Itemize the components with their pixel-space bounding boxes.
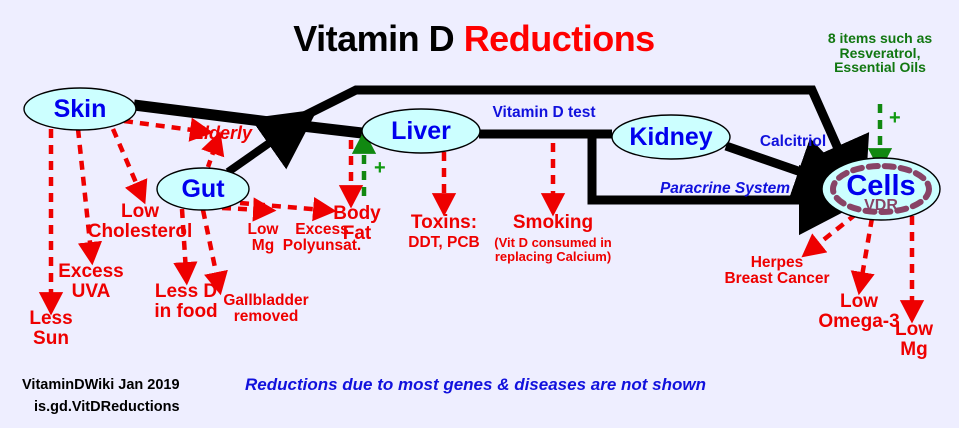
reduction-less-d-line2: in food [154,302,217,322]
reduction-low-mg-gut: Low Mg [248,222,279,255]
reduction-less-sun-line1: Less [29,309,72,329]
title-part-vitamin-d: Vitamin D [293,18,463,59]
organ-label-liver[interactable]: Liver [391,118,451,144]
title-part-reductions: Reductions [464,18,655,59]
reduction-smoking: Smoking [513,213,593,233]
reduction-low-cholesterol-line2: Cholesterol [88,222,193,242]
pathway-label-paracrine-system: Paracrine System [660,181,790,197]
source-attribution-line2[interactable]: is.gd.VitDReductions [34,400,180,415]
reduction-toxins: Toxins: [411,213,477,233]
source-attribution-line1: VitaminDWiki Jan 2019 [22,378,180,393]
reduction-body-fat-line1: Body [333,204,381,224]
reduction-low-omega3-line2: Omega-3 [818,312,899,332]
reduction-low-mg-cells-line2: Mg [895,340,933,360]
reduction-excess-uva-line1: Excess [58,262,124,282]
pathway-label-vitamin-d-test: Vitamin D test [492,105,595,121]
reduction-less-sun: Less Sun [29,309,72,349]
vdr-label: VDR [864,198,898,215]
reduction-gallbladder-line1: Gallbladder [223,293,308,309]
page-title: Vitamin D Reductions [293,20,654,58]
reduction-low-omega3-line1: Low [818,292,899,312]
footer-note: Reductions due to most genes & diseases … [245,376,706,394]
reduction-gallbladder-removed: Gallbladder removed [223,293,308,326]
plus-sign-cells: + [889,108,901,129]
organ-label-gut[interactable]: Gut [181,176,224,202]
organ-label-kidney[interactable]: Kidney [629,124,712,150]
reduction-less-sun-line2: Sun [29,329,72,349]
reduction-herpes-line1: Herpes [724,255,829,271]
reduction-low-cholesterol: Low Cholesterol [88,202,193,242]
pathway-label-calcitriol: Calcitriol [760,134,826,150]
reduction-herpes-line2: Breast Cancer [724,271,829,287]
diagram-canvas: Vitamin D Reductions Skin Gut Liver Kidn… [0,0,959,428]
reduction-less-d-line1: Less D [154,282,217,302]
plus-sign-liver: + [374,158,386,179]
reduction-smoking-detail-line1: (Vit D consumed in [494,236,612,250]
green-note-8-items: 8 items such as Resveratrol, Essential O… [828,31,932,75]
reduction-low-cholesterol-line1: Low [88,202,193,222]
reduction-elderly: Elderly [192,124,252,143]
organ-label-skin[interactable]: Skin [54,96,107,122]
reduction-excess-uva: Excess UVA [58,262,124,302]
reduction-low-omega3: Low Omega-3 [818,292,899,332]
reduction-herpes-breast-cancer: Herpes Breast Cancer [724,255,829,288]
reduction-smoking-detail: (Vit D consumed in replacing Calcium) [494,236,612,263]
green-note-line2: Resveratrol, [828,46,932,61]
reduction-low-mg-line1: Low [248,222,279,238]
reduction-less-d-in-food: Less D in food [154,282,217,322]
reduction-body-fat: Body Fat [333,204,381,244]
green-note-line1: 8 items such as [828,31,932,46]
reduction-smoking-detail-line2: replacing Calcium) [494,250,612,264]
reduction-excess-uva-line2: UVA [58,282,124,302]
pathway-kidney-to-cells [726,146,824,180]
reduction-low-mg-cells-line1: Low [895,320,933,340]
reduction-low-mg-line2: Mg [248,238,279,254]
green-note-line3: Essential Oils [828,60,932,75]
reduction-toxins-detail: DDT, PCB [408,235,479,251]
reduction-body-fat-line2: Fat [333,224,381,244]
reduction-low-mg-cells: Low Mg [895,320,933,360]
reduction-gallbladder-line2: removed [223,309,308,325]
